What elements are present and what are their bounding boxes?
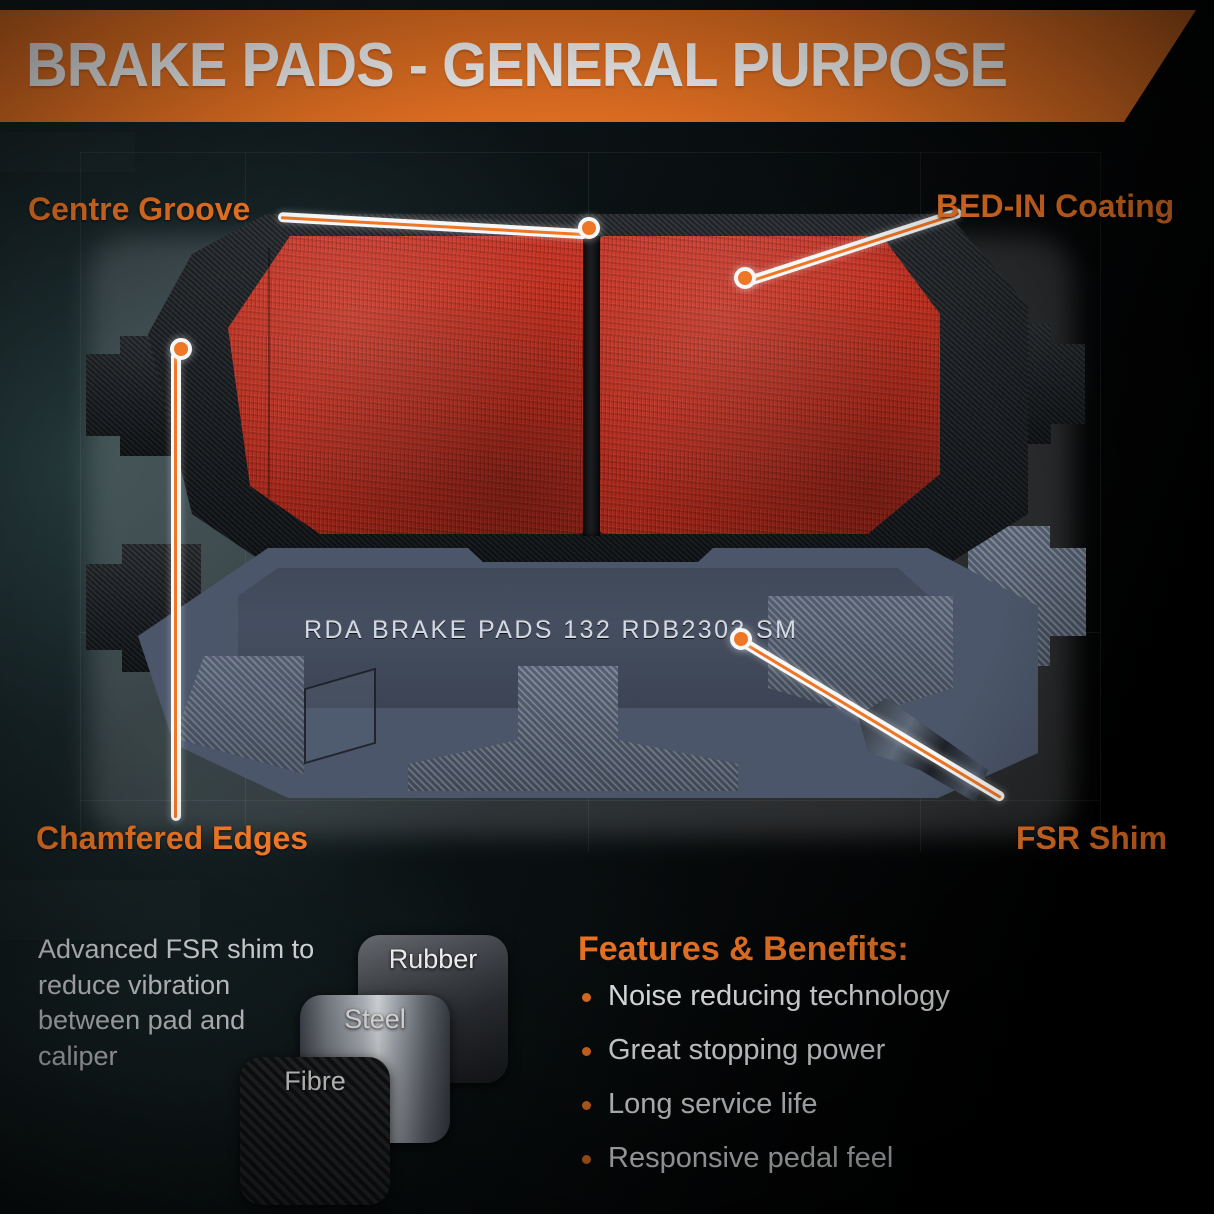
background-vignette (0, 0, 1214, 1214)
infographic-canvas: BRAKE PADS - GENERAL PURPOSE (0, 0, 1214, 1214)
